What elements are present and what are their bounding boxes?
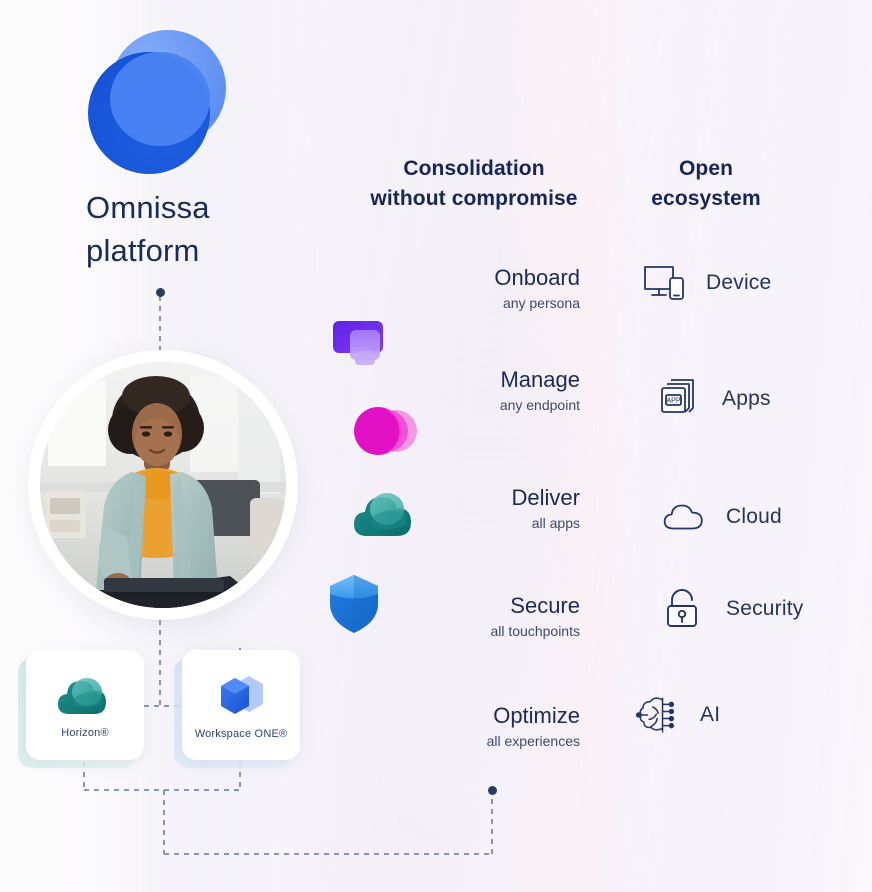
pillar-onboard: Onboard any persona <box>320 264 580 313</box>
app-badge-text: APP <box>666 398 680 405</box>
brand-title-line2: platform <box>86 229 316 272</box>
horizon-cloud-icon <box>56 672 114 723</box>
open-ecosystem-heading-line2: ecosystem <box>624 184 788 214</box>
connector-dot-optimize <box>488 786 497 795</box>
padlock-icon <box>662 586 708 632</box>
eco-item-apps[interactable]: APP Apps <box>658 376 771 422</box>
pillar-optimize: Optimize all experiences <box>320 702 580 751</box>
workspace-one-card-label: Workspace ONE® <box>195 728 288 740</box>
cloud-teal-icon <box>352 486 414 548</box>
pillar-optimize-sub: all experiences <box>320 731 580 751</box>
page-title: Omnissa platform <box>86 186 316 272</box>
cloud-outline-icon <box>662 494 708 540</box>
background-band-2 <box>300 0 600 892</box>
workspace-one-cube-icon <box>215 671 267 724</box>
eco-item-ai-label: AI <box>700 703 720 727</box>
eco-item-cloud[interactable]: Cloud <box>662 494 782 540</box>
eco-item-cloud-label: Cloud <box>726 505 782 529</box>
consolidation-heading: Consolidation without compromise <box>354 154 594 214</box>
app-stack-icon: APP <box>658 376 704 422</box>
consolidation-heading-line2: without compromise <box>354 184 594 214</box>
open-ecosystem-heading: Open ecosystem <box>624 154 788 214</box>
open-ecosystem-heading-line1: Open <box>624 154 788 184</box>
pillar-onboard-sub: any persona <box>320 293 580 313</box>
consolidation-heading-line1: Consolidation <box>354 154 594 184</box>
product-card-horizon[interactable]: Horizon® <box>26 650 144 760</box>
eco-item-security-label: Security <box>726 597 803 621</box>
brain-circuit-icon <box>636 692 682 738</box>
background-band-3 <box>520 0 770 892</box>
eco-item-device[interactable]: Device <box>642 260 771 306</box>
connector-dot-top <box>156 288 165 297</box>
logo-circle-overlap <box>110 52 210 146</box>
omnissa-logo-icon <box>88 30 228 170</box>
brand-title-line1: Omnissa <box>86 186 316 229</box>
person-at-laptop-photo <box>40 362 286 608</box>
eco-item-ai[interactable]: AI <box>636 692 720 738</box>
circles-magenta-icon <box>354 404 416 466</box>
omnissa-platform-infographic: Omnissa platform <box>0 0 872 892</box>
eco-item-security[interactable]: Security <box>662 586 803 632</box>
eco-item-device-label: Device <box>706 271 771 295</box>
monitor-phone-icon <box>642 260 688 306</box>
horizon-card-label: Horizon® <box>61 727 109 739</box>
pillar-onboard-title: Onboard <box>320 264 580 292</box>
product-card-workspace-one[interactable]: Workspace ONE® <box>182 650 300 760</box>
background-band-4 <box>610 0 872 892</box>
shield-blue-icon <box>327 572 389 634</box>
pillar-optimize-title: Optimize <box>320 702 580 730</box>
eco-item-apps-label: Apps <box>722 387 771 411</box>
pillar-manage-title: Manage <box>320 366 580 394</box>
